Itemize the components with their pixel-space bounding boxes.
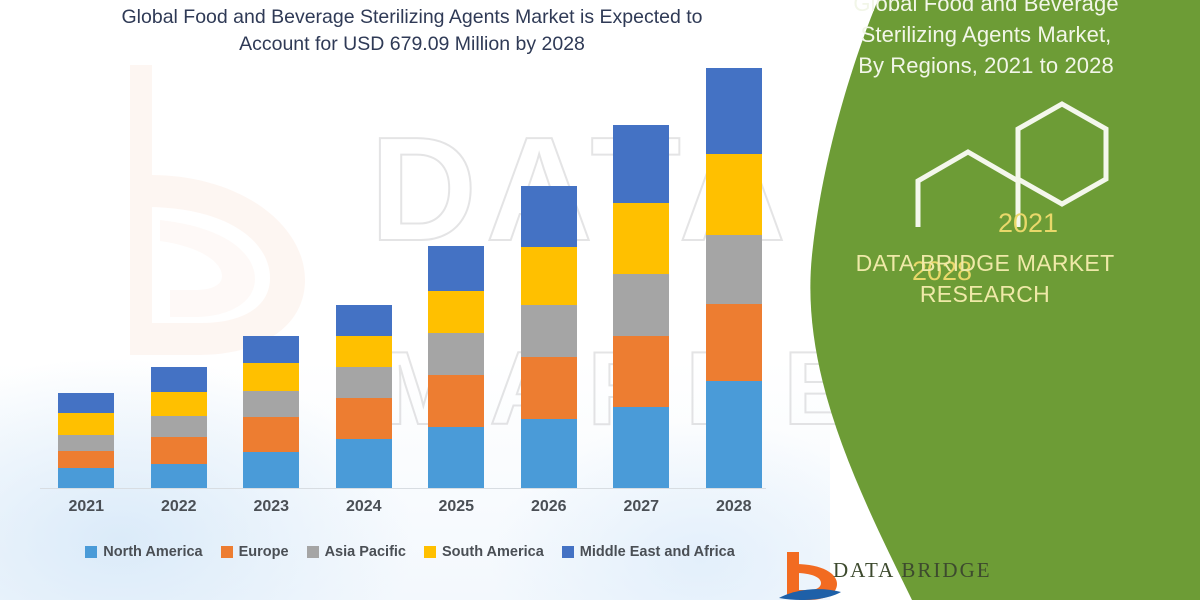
bar-column-2026[interactable] [521,186,577,488]
bar-segment[interactable] [336,367,392,398]
bar-segment[interactable] [521,419,577,488]
bar-segment[interactable] [428,291,484,334]
bar-column-2027[interactable] [613,125,669,488]
x-axis-label-2027: 2027 [596,498,686,516]
data-bridge-logo: DATA BRIDGE [775,552,1195,600]
legend-item[interactable]: Asia Pacific [307,544,406,560]
x-axis-labels: 20212022202320242025202620272028 [40,498,780,524]
panel-title-line-1: Global Food and Beverage [790,0,1182,19]
legend-swatch-icon [562,546,574,558]
logo-b-stem [787,552,799,596]
legend-item[interactable]: North America [85,544,202,560]
bar-segment[interactable] [613,125,669,202]
bar-segment[interactable] [243,452,299,488]
legend-label: Europe [239,544,289,560]
legend-label: North America [103,544,202,560]
year-hexagons: 2021 2028 [820,92,1150,227]
bar-segment[interactable] [336,439,392,488]
legend-item[interactable]: Middle East and Africa [562,544,735,560]
bar-segment[interactable] [428,246,484,291]
chart-title-line-2: Account for USD 679.09 Million by 2028 [42,31,782,58]
bar-segment[interactable] [243,363,299,390]
bar-segment[interactable] [613,203,669,274]
legend-swatch-icon [221,546,233,558]
logo-wordmark: DATA BRIDGE [833,558,992,583]
bar-segment[interactable] [151,367,207,392]
hexagon-2021-shape [1018,104,1106,204]
chart-baseline-axis [40,488,766,489]
panel-brand-text: DATA BRIDGE MARKET RESEARCH [780,248,1190,310]
bar-segment[interactable] [613,274,669,336]
bar-segment[interactable] [58,413,114,434]
x-axis-label-2024: 2024 [319,498,409,516]
bar-segment[interactable] [706,235,762,304]
panel-title: Global Food and Beverage Sterilizing Age… [790,0,1182,81]
bar-segment[interactable] [428,427,484,488]
bar-column-2023[interactable] [243,336,299,488]
bar-segment[interactable] [521,247,577,305]
bar-segment[interactable] [706,154,762,235]
chart-legend: North AmericaEuropeAsia PacificSouth Ame… [40,540,780,564]
legend-swatch-icon [424,546,436,558]
panel-title-line-3: By Regions, 2021 to 2028 [790,50,1182,81]
bar-segment[interactable] [58,468,114,488]
chart-title: Global Food and Beverage Sterilizing Age… [42,4,782,58]
x-axis-label-2023: 2023 [226,498,316,516]
bar-column-2022[interactable] [151,367,207,488]
bar-segment[interactable] [151,437,207,464]
panel-brand-line-1: DATA BRIDGE MARKET [780,248,1190,279]
infographic-canvas: DATA BRIDGE MARKET RESEARCH Global Food … [0,0,1200,600]
bar-segment[interactable] [151,392,207,416]
bar-column-2028[interactable] [706,68,762,488]
legend-label: Middle East and Africa [580,544,735,560]
bar-segment[interactable] [613,336,669,407]
bar-segment[interactable] [428,375,484,427]
green-side-panel: Global Food and Beverage Sterilizing Age… [760,0,1200,600]
bar-segment[interactable] [613,407,669,488]
bar-segment[interactable] [706,304,762,381]
bar-segment[interactable] [521,305,577,357]
bar-segment[interactable] [336,305,392,336]
hexagon-label-2021: 2021 [998,208,1058,239]
bar-segment[interactable] [243,417,299,453]
x-axis-label-2025: 2025 [411,498,501,516]
bar-segment[interactable] [58,451,114,468]
bar-segment[interactable] [521,186,577,247]
bar-segment[interactable] [58,393,114,413]
bar-segment[interactable] [521,357,577,419]
legend-label: Asia Pacific [325,544,406,560]
bar-column-2024[interactable] [336,305,392,488]
bar-segment[interactable] [151,416,207,437]
legend-label: South America [442,544,544,560]
bar-segment[interactable] [336,398,392,440]
bar-segment[interactable] [243,391,299,417]
bar-segment[interactable] [428,333,484,375]
bar-segment[interactable] [58,435,114,452]
bar-segment[interactable] [706,381,762,488]
x-axis-label-2021: 2021 [41,498,131,516]
legend-item[interactable]: Europe [221,544,289,560]
x-axis-label-2026: 2026 [504,498,594,516]
panel-brand-line-2: RESEARCH [780,279,1190,310]
bar-segment[interactable] [151,464,207,488]
stacked-bar-plot [40,60,780,488]
bar-segment[interactable] [243,336,299,363]
bar-column-2025[interactable] [428,246,484,489]
legend-swatch-icon [307,546,319,558]
chart-title-line-1: Global Food and Beverage Sterilizing Age… [42,4,782,31]
panel-title-line-2: Sterilizing Agents Market, [790,19,1182,50]
bar-segment[interactable] [336,336,392,367]
bar-column-2021[interactable] [58,393,114,488]
legend-swatch-icon [85,546,97,558]
legend-item[interactable]: South America [424,544,544,560]
bar-segment[interactable] [706,68,762,154]
x-axis-label-2022: 2022 [134,498,224,516]
